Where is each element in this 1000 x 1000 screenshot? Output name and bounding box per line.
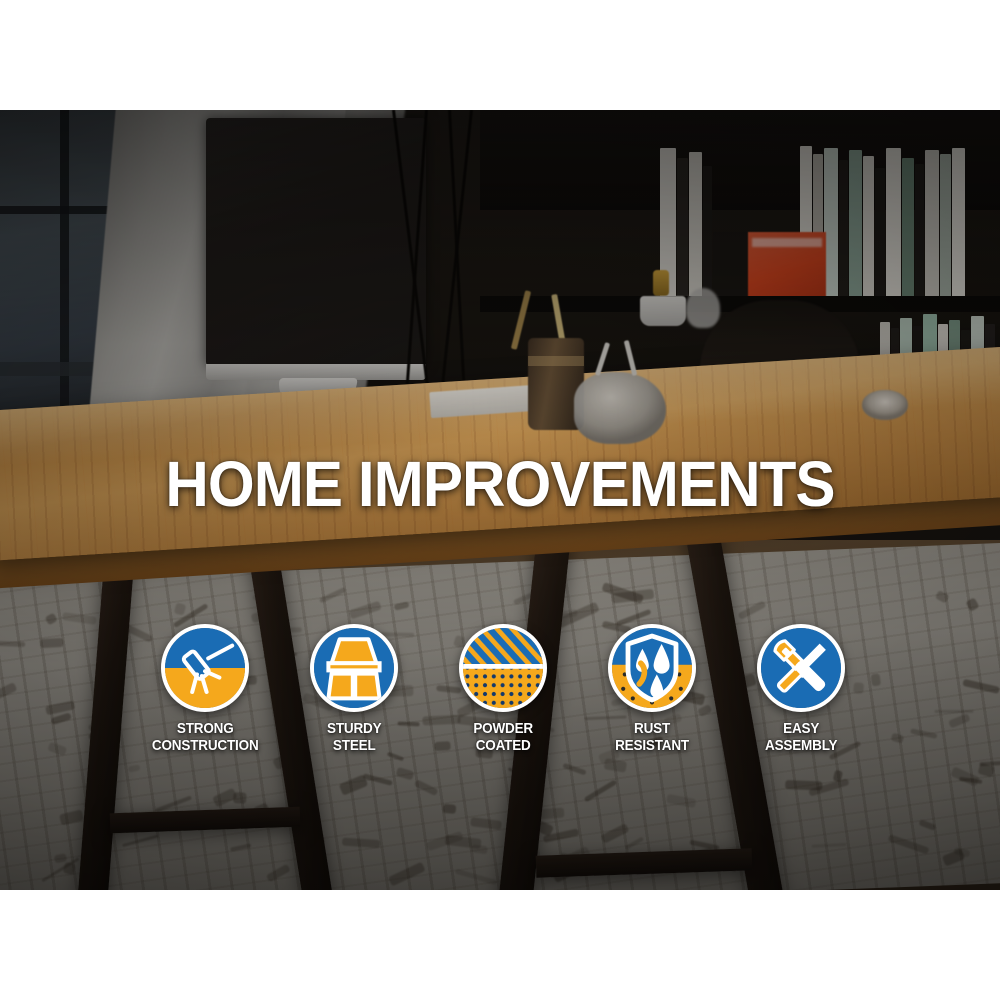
feature-label-line1: STURDY bbox=[327, 720, 381, 737]
rug-motif bbox=[935, 710, 974, 713]
feature-label-line1: RUST bbox=[634, 720, 670, 737]
feature-label-line2: COATED bbox=[476, 737, 531, 754]
feature-label-easy-assembly: EASY ASSEMBLY bbox=[765, 720, 837, 754]
book-spine bbox=[824, 148, 838, 298]
book-spine bbox=[940, 154, 951, 298]
book-spine bbox=[886, 148, 901, 298]
book-spine bbox=[875, 168, 885, 298]
bookshelf-upper-books bbox=[660, 140, 1000, 298]
screwdriver-wrench-icon bbox=[761, 628, 841, 708]
feature-rust-resistant[interactable]: RUST RESISTANT bbox=[587, 624, 717, 754]
brass-figurine bbox=[653, 270, 669, 296]
feature-label-line1: POWDER bbox=[473, 720, 533, 737]
book-spine bbox=[902, 158, 914, 298]
product-banner: HOME IMPROVEMENTS bbox=[0, 0, 1000, 1000]
book-spine bbox=[952, 148, 965, 298]
deer-figurine bbox=[574, 372, 666, 444]
white-cup bbox=[640, 296, 686, 326]
imac-screen bbox=[206, 118, 426, 366]
badge-powder-coated[interactable] bbox=[459, 624, 547, 712]
badge-rust-resistant[interactable] bbox=[608, 624, 696, 712]
feature-label-line2: CONSTRUCTION bbox=[152, 737, 259, 754]
window-mullion-horizontal bbox=[0, 206, 122, 214]
feature-label-strong-construction: STRONG CONSTRUCTION bbox=[152, 720, 259, 754]
rug-motif bbox=[0, 640, 25, 647]
book-spine bbox=[703, 166, 712, 298]
book-spine bbox=[689, 152, 702, 298]
page-title: HOME IMPROVEMENTS bbox=[30, 452, 970, 516]
feature-sturdy-steel[interactable]: STURDY STEEL bbox=[289, 624, 419, 754]
book-spine bbox=[677, 158, 688, 298]
badge-strong-construction[interactable] bbox=[161, 624, 249, 712]
book-spine bbox=[915, 164, 924, 298]
badge-easy-assembly[interactable] bbox=[757, 624, 845, 712]
feature-label-sturdy-steel: STURDY STEEL bbox=[327, 720, 381, 754]
rug-motif bbox=[870, 673, 880, 686]
feature-label-line1: EASY bbox=[783, 720, 819, 737]
crumpled-paper bbox=[862, 390, 908, 420]
shield-water-drop-icon bbox=[612, 628, 692, 708]
badge-sturdy-steel[interactable] bbox=[310, 624, 398, 712]
book-spine bbox=[849, 150, 862, 298]
book-spine bbox=[839, 160, 848, 298]
pen-holder-band bbox=[528, 356, 584, 366]
feature-badge-row: STRONG CONSTRUCTION STURDY STEEL bbox=[140, 624, 866, 754]
hammer-icon bbox=[165, 628, 245, 708]
feature-label-line2: RESISTANT bbox=[615, 737, 689, 754]
book-spine bbox=[863, 156, 874, 298]
feature-label-powder-coated: POWDER COATED bbox=[473, 720, 533, 754]
feature-label-rust-resistant: RUST RESISTANT bbox=[615, 720, 689, 754]
powder-coat-texture-icon bbox=[463, 628, 543, 708]
grey-vase bbox=[686, 288, 720, 328]
feature-label-line2: ASSEMBLY bbox=[765, 737, 837, 754]
rug-motif bbox=[40, 637, 64, 647]
book-spine bbox=[925, 150, 939, 298]
feature-powder-coated[interactable]: POWDER COATED bbox=[438, 624, 568, 754]
i-beam-icon bbox=[314, 628, 394, 708]
feature-label-line1: STRONG bbox=[177, 720, 234, 737]
feature-strong-construction[interactable]: STRONG CONSTRUCTION bbox=[140, 624, 270, 754]
orange-box-highlight bbox=[752, 238, 822, 247]
feature-label-line2: STEEL bbox=[333, 737, 376, 754]
feature-easy-assembly[interactable]: EASY ASSEMBLY bbox=[736, 624, 866, 754]
